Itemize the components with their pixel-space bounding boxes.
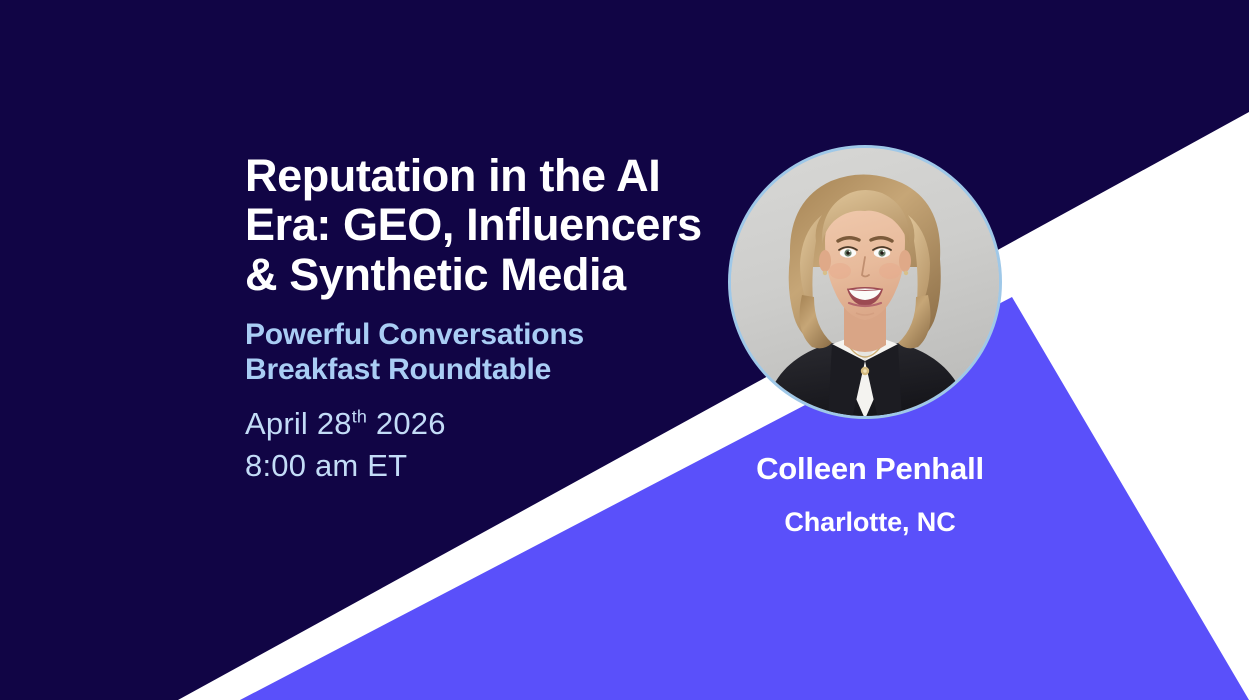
event-promo-card: Reputation in the AI Era: GEO, Influence… [0,0,1249,700]
speaker-location: Charlotte, NC [660,487,1080,538]
headshot-photo [728,145,1002,419]
event-date: April 28th 2026 [245,403,740,444]
speaker-portrait-circle [728,145,1002,419]
speaker-name: Colleen Penhall [660,450,1080,487]
event-subtitle: Powerful Conversations Breakfast Roundta… [245,299,740,388]
event-date-month-day: April 28 [245,406,352,441]
event-date-ordinal: th [352,407,367,427]
event-text-column: Reputation in the AI Era: GEO, Influence… [245,151,740,486]
speaker-caption: Colleen Penhall Charlotte, NC [660,450,1080,539]
event-date-year: 2026 [367,406,446,441]
event-title: Reputation in the AI Era: GEO, Influence… [245,151,740,299]
